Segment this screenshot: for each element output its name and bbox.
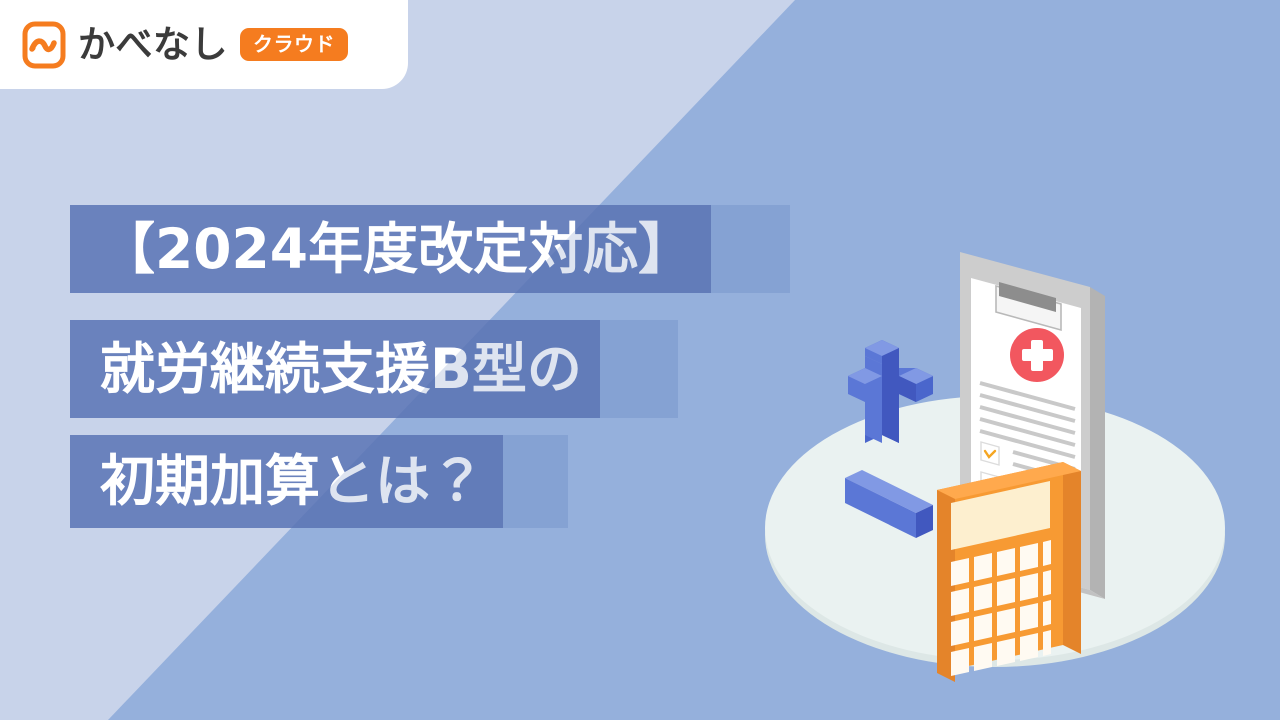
kabenashi-refresh-mark-icon [20, 21, 68, 69]
medical-cross-badge-icon [1010, 328, 1064, 382]
title-line-2: 就労継続支援B型の [70, 320, 600, 418]
brand-cloud-badge: クラウド [240, 28, 348, 61]
brand-wordmark: かべなし [78, 26, 228, 63]
brand-logo-panel[interactable]: かべなし クラウド [0, 0, 408, 89]
title-line-1: 【2024年度改定対応】 [70, 205, 711, 293]
title-line-3: 初期加算とは？ [70, 435, 503, 528]
isometric-illustration [745, 190, 1245, 690]
thumbnail-canvas: 【2024年度改定対応】 就労継続支援B型の 初期加算とは？ かべなし クラウド [0, 0, 1280, 720]
title-block: 【2024年度改定対応】 就労継続支援B型の 初期加算とは？ [70, 205, 711, 528]
